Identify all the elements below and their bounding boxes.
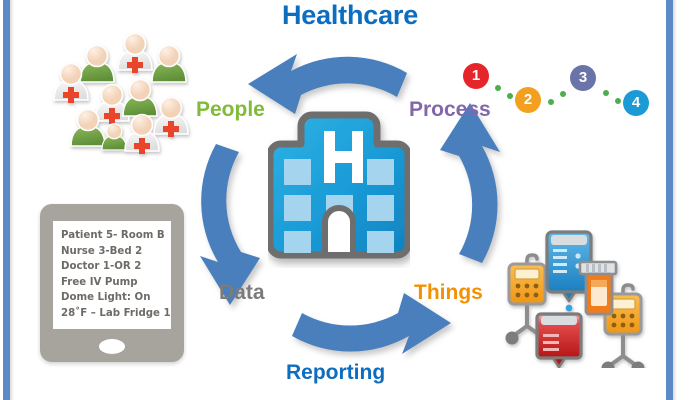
tablet-status-line: Doctor 1-OR 2	[61, 259, 169, 275]
medical-devices-icon	[492, 218, 667, 368]
process-step-3[interactable]: 3	[570, 65, 596, 91]
tablet-status-line: Dome Light: On	[61, 290, 169, 306]
cycle-label-data: Data	[219, 281, 265, 305]
hospital-building-icon	[268, 103, 410, 268]
cycle-label-reporting: Reporting	[286, 361, 385, 385]
connector-dot	[615, 98, 621, 104]
arrow-right	[440, 103, 500, 263]
connector-dot	[507, 93, 513, 99]
page-title-line2: Healthcare	[150, 0, 550, 31]
right-border	[666, 0, 673, 400]
process-step-2[interactable]: 2	[515, 87, 541, 113]
cycle-label-people: People	[196, 98, 265, 122]
connector-dot	[560, 91, 566, 97]
tablet-status-line: Patient 5- Room B	[61, 228, 169, 244]
cycle-label-things: Things	[414, 281, 483, 305]
connector-dot	[548, 99, 554, 105]
tablet-home-button[interactable]	[99, 339, 125, 354]
tablet-status-line: Free IV Pump	[61, 275, 169, 291]
tablet-status-line: Nurse 3-Bed 2	[61, 244, 169, 260]
tablet-screen: Patient 5- Room B Nurse 3-Bed 2 Doctor 1…	[53, 221, 171, 329]
connector-dot	[495, 85, 501, 91]
left-border-shadow	[10, 0, 14, 400]
pill-bottle	[580, 262, 616, 314]
process-step-4[interactable]: 4	[623, 90, 649, 116]
cycle-label-process: Process	[409, 98, 491, 122]
tablet-device[interactable]: Patient 5- Room B Nurse 3-Bed 2 Doctor 1…	[40, 204, 184, 362]
tablet-status-line: 28˚F – Lab Fridge 1	[61, 306, 169, 322]
process-step-1[interactable]: 1	[463, 63, 489, 89]
blood-bag	[537, 314, 581, 368]
diagram-canvas: Internet of Things in Healthcare People …	[0, 0, 698, 400]
left-border	[3, 0, 10, 400]
tablet-status-list: Patient 5- Room B Nurse 3-Bed 2 Doctor 1…	[61, 228, 169, 322]
hospital-door	[325, 208, 353, 255]
right-border-shadow	[673, 0, 677, 400]
connector-dot	[603, 90, 609, 96]
people-group-icon	[44, 32, 194, 164]
